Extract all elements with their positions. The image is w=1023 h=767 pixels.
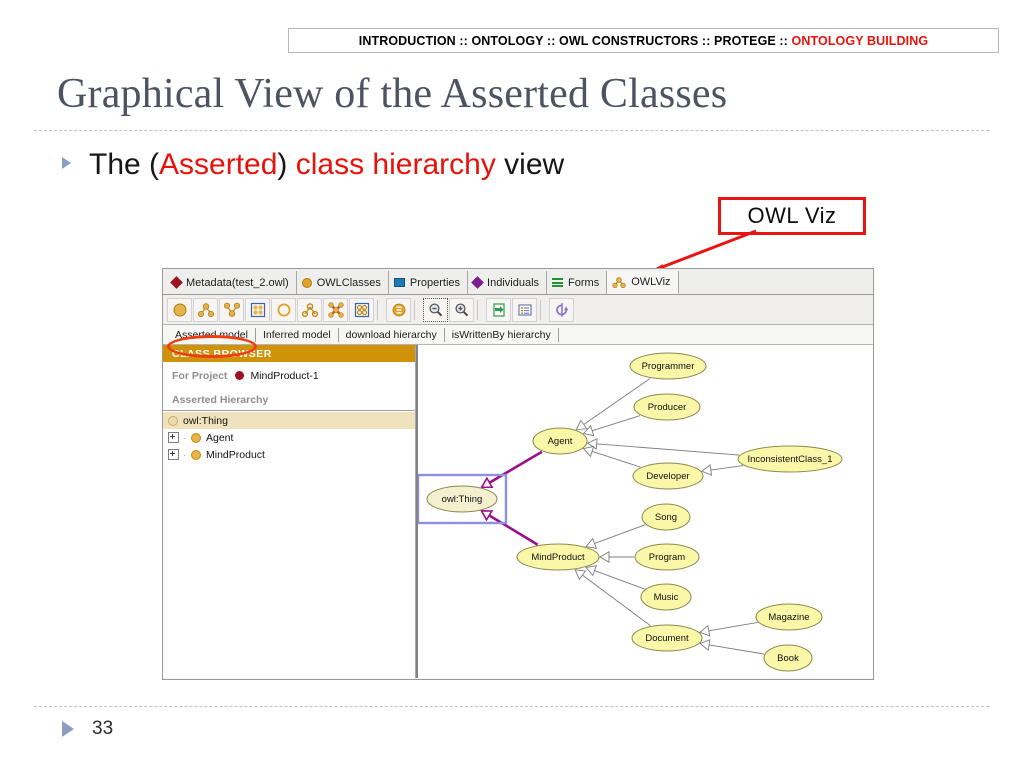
graph-node[interactable]: Developer [633,463,703,489]
svg-text:Developer: Developer [646,471,689,482]
tree-item-owl-thing[interactable]: owl:Thing [163,412,415,429]
toolbar-separator-4 [540,300,547,320]
tab-forms[interactable]: Forms [547,271,607,294]
tab-owlclasses-label: OWLClasses [317,277,381,289]
show-all-classes-icon[interactable] [245,298,270,322]
footer-row: 33 [62,718,113,740]
gold-circle-icon [302,278,312,288]
tab-owlviz[interactable]: OWLViz [607,271,678,294]
breadcrumb-highlight: ONTOLOGY BUILDING [792,34,929,48]
page-title: Graphical View of the Asserted Classes [57,70,987,118]
purple-diamond-icon [471,276,484,289]
toolbar-separator-1 [377,300,384,320]
graph-edge-arrowhead [702,465,712,475]
graph-edge-arrowhead [586,539,596,549]
mode-tab-asserted-model[interactable]: Asserted model [168,328,256,342]
protege-tab-strip: Metadata(test_2.owl) OWLClasses Properti… [163,269,873,295]
tab-metadata-label: Metadata(test_2.owl) [186,277,289,289]
svg-text:Magazine: Magazine [768,612,809,623]
show-root-icon[interactable] [271,298,296,322]
show-grid-icon[interactable] [349,298,374,322]
bullet-part-class-hierarchy: class hierarchy [296,148,496,181]
owlviz-toolbar [163,295,873,325]
owlviz-callout-label: OWL Viz [747,203,836,229]
mode-tab-inferred-model[interactable]: Inferred model [256,328,339,342]
svg-text:Producer: Producer [648,402,687,413]
blue-square-icon [394,278,405,287]
for-project-label: For Project [172,370,227,382]
show-subclasses-icon[interactable] [193,298,218,322]
show-class-icon[interactable] [167,298,192,322]
owlviz-callout-box: OWL Viz [718,197,866,235]
graph-edge-arrowhead [576,420,586,429]
graph-edge-arrowhead [700,640,710,650]
graph-node[interactable]: Music [641,584,691,610]
bullet-part-asserted: Asserted [159,148,277,181]
owlviz-mode-tabs: Asserted model Inferred model download h… [163,325,873,345]
graph-node[interactable]: Program [635,544,699,570]
bullet-part-3: ) [277,148,295,181]
graph-node[interactable]: Programmer [630,353,706,379]
radius-icon[interactable] [386,298,411,322]
tree-item-owl-thing-label: owl:Thing [183,415,228,427]
breadcrumb-plain: INTRODUCTION :: ONTOLOGY :: OWL CONSTRUC… [359,34,792,48]
graph-node[interactable]: Agent [533,428,587,454]
graph-node[interactable]: Book [764,645,812,671]
footer-divider [34,706,989,707]
refresh-icon[interactable] [549,298,574,322]
class-hierarchy-graph: owl:ThingAgentProgrammerProducerDevelope… [418,345,873,678]
graph-node[interactable]: MindProduct [517,544,599,570]
graph-edge-arrowhead [600,552,609,562]
show-tree-icon[interactable] [297,298,322,322]
breadcrumb-text: INTRODUCTION :: ONTOLOGY :: OWL CONSTRUC… [359,34,928,48]
tab-individuals[interactable]: Individuals [468,271,547,294]
legend-icon[interactable] [512,298,537,322]
asserted-hierarchy-title: Asserted Hierarchy [163,389,415,411]
red-diamond-icon [170,276,183,289]
graph-node[interactable]: Producer [634,394,700,420]
export-icon[interactable] [486,298,511,322]
graph-edge [482,452,542,488]
graph-node[interactable]: Document [632,625,702,651]
expand-plus-icon[interactable] [168,449,179,460]
graph-edge [481,511,537,545]
graph-edge-arrowhead [583,446,593,456]
owlviz-graph-canvas[interactable]: owl:ThingAgentProgrammerProducerDevelope… [416,345,873,678]
owlviz-body: CLASS BROWSER For Project MindProduct-1 … [163,345,873,678]
green-lines-icon [552,278,563,287]
class-bullet-icon [191,433,201,443]
class-bullet-icon [168,416,178,426]
svg-text:Book: Book [777,653,799,664]
protege-application-window: Metadata(test_2.owl) OWLClasses Properti… [162,268,874,680]
breadcrumb-bar: INTRODUCTION :: ONTOLOGY :: OWL CONSTRUC… [288,28,999,53]
graph-node[interactable]: Magazine [756,604,822,630]
bullet-part-5: view [496,148,564,181]
svg-text:owl:Thing: owl:Thing [442,494,483,505]
svg-text:Program: Program [649,552,686,563]
svg-text:MindProduct: MindProduct [531,552,585,563]
graph-edge-arrowhead [586,566,596,576]
expand-plus-icon[interactable] [168,432,179,443]
graph-edge [700,643,764,654]
owlviz-tree-icon [612,277,626,288]
toolbar-separator-2 [414,300,421,320]
page-number: 33 [92,718,113,740]
class-browser-header: CLASS BROWSER [163,345,415,362]
svg-text:Song: Song [655,512,677,523]
graph-edge-arrowhead [575,570,585,580]
graph-node[interactable]: InconsistentClass_1 [738,446,842,472]
class-browser-project-row: For Project MindProduct-1 [163,362,415,389]
toolbar-separator-3 [477,300,484,320]
bullet-marker-icon [62,157,71,169]
footer-marker-icon [62,721,74,737]
asserted-hierarchy-tree: owl:Thing · Agent · MindProduct [163,411,415,678]
tree-item-agent-label: Agent [206,432,233,444]
class-bullet-icon [191,450,201,460]
graph-node[interactable]: Song [642,504,690,530]
svg-text:Programmer: Programmer [642,361,695,372]
tab-properties-label: Properties [410,277,460,289]
mode-tab-iswrittenby-hierarchy[interactable]: isWrittenBy hierarchy [445,328,559,342]
show-inconsistent-icon[interactable] [323,298,348,322]
svg-text:Music: Music [654,592,679,603]
title-divider [34,130,989,131]
bullet-text: The (Asserted) class hierarchy view [89,148,564,182]
tab-individuals-label: Individuals [487,277,539,289]
bullet-row: The (Asserted) class hierarchy view [62,148,564,182]
tree-connector: · [183,450,191,460]
class-browser-panel: CLASS BROWSER For Project MindProduct-1 … [163,345,416,678]
graph-node[interactable]: owl:Thing [427,486,497,512]
graph-edge [588,443,740,455]
tab-owlclasses[interactable]: OWLClasses [297,271,389,294]
tree-item-mindproduct[interactable]: · MindProduct [163,446,415,463]
svg-text:InconsistentClass_1: InconsistentClass_1 [747,454,832,465]
tree-connector: · [183,433,191,443]
graph-edge-arrowhead [700,626,710,636]
svg-text:Document: Document [645,633,689,644]
tab-metadata[interactable]: Metadata(test_2.owl) [167,271,297,294]
tab-owlviz-label: OWLViz [631,276,670,288]
tree-item-agent[interactable]: · Agent [163,429,415,446]
tab-forms-label: Forms [568,277,599,289]
mode-tab-download-hierarchy[interactable]: download hierarchy [339,328,445,342]
zoom-out-icon[interactable] [423,298,448,322]
svg-text:Agent: Agent [548,436,573,447]
tab-properties[interactable]: Properties [389,271,468,294]
tree-item-mindproduct-label: MindProduct [206,449,265,461]
project-dot-icon [235,371,244,380]
zoom-in-icon[interactable] [449,298,474,322]
bullet-part-1: The ( [89,148,159,181]
show-superclasses-icon[interactable] [219,298,244,322]
graph-edge [575,570,650,626]
project-name[interactable]: MindProduct-1 [250,370,318,382]
